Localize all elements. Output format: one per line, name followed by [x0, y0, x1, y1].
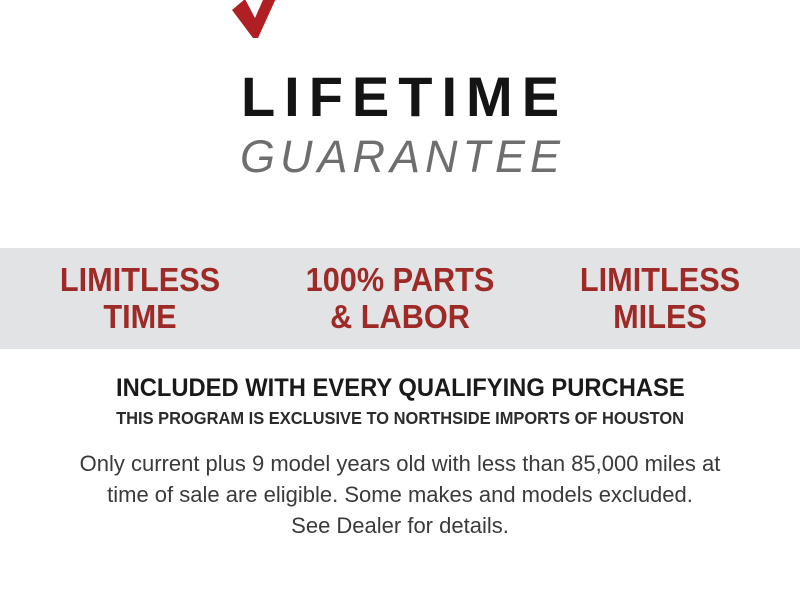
feature-column-parts-labor: 100% PARTS & LABOR: [280, 262, 520, 336]
feature-line-1: LIMITLESS: [18, 262, 262, 299]
fineprint-line: time of sale are eligible. Some makes an…: [35, 479, 765, 510]
check-mark-icon: [228, 0, 290, 44]
lifetime-guarantee-ad: LIFETIME GUARANTEE LIMITLESS TIME 100% P…: [0, 0, 800, 600]
fineprint-line: Only current plus 9 model years old with…: [35, 448, 765, 479]
logo-wordmark: LIFETIME: [232, 69, 568, 125]
feature-column-miles: LIMITLESS MILES: [538, 262, 782, 336]
feature-column-time: LIMITLESS TIME: [18, 262, 262, 336]
copy-block: INCLUDED WITH EVERY QUALIFYING PURCHASE …: [0, 349, 800, 600]
feature-band: LIMITLESS TIME 100% PARTS & LABOR LIMITL…: [0, 248, 800, 349]
fineprint-line: See Dealer for details.: [35, 510, 765, 541]
feature-line-2: & LABOR: [280, 299, 520, 336]
feature-line-2: TIME: [18, 299, 262, 336]
subheadline: THIS PROGRAM IS EXCLUSIVE TO NORTHSIDE I…: [116, 409, 684, 428]
logo-subtitle: GUARANTEE: [235, 134, 565, 179]
feature-line-1: LIMITLESS: [538, 262, 782, 299]
headline: INCLUDED WITH EVERY QUALIFYING PURCHASE: [116, 375, 685, 403]
feature-line-1: 100% PARTS: [280, 262, 520, 299]
fineprint: Only current plus 9 model years old with…: [35, 448, 765, 542]
feature-line-2: MILES: [538, 299, 782, 336]
logo-block: LIFETIME GUARANTEE: [0, 0, 800, 248]
